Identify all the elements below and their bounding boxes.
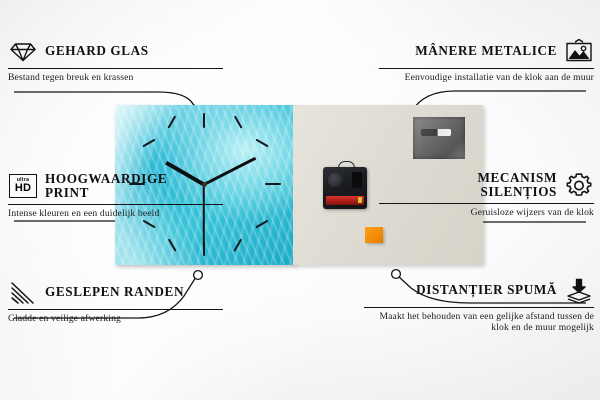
feature-divider bbox=[8, 68, 223, 69]
feature-subtitle: Gladde en veilige afwerking bbox=[8, 313, 223, 324]
clock-tick bbox=[203, 113, 205, 128]
clock-tick bbox=[233, 239, 242, 252]
ultra-hd-icon: ultra HD bbox=[8, 173, 38, 200]
metal-hanger-plate bbox=[413, 117, 465, 159]
feature-title: GESLEPEN RANDEN bbox=[45, 285, 184, 299]
clock-tick bbox=[167, 116, 176, 129]
clock-tick bbox=[265, 183, 281, 185]
feature-distantier-spuma: DISTANȚIER SPUMĂ Maakt het behouden van … bbox=[364, 277, 594, 334]
feature-gehard-glas: GEHARD GLAS Bestand tegen breuk en krass… bbox=[8, 38, 223, 83]
feature-title: MÂNERE METALICE bbox=[415, 44, 557, 58]
gear-icon bbox=[564, 172, 594, 199]
feature-divider bbox=[364, 307, 594, 308]
feature-manere-metalice: MÂNERE METALICE Eenvoudige installatie v… bbox=[379, 38, 594, 83]
feature-divider bbox=[8, 204, 223, 205]
clock-tick bbox=[255, 220, 268, 229]
battery bbox=[326, 196, 364, 205]
clock-tick bbox=[142, 139, 155, 148]
feature-title: GEHARD GLAS bbox=[45, 44, 149, 58]
feature-divider bbox=[379, 68, 594, 69]
feature-subtitle: Eenvoudige installatie van de klok aan d… bbox=[379, 72, 594, 83]
clock-tick bbox=[142, 220, 155, 229]
feature-title: HOOGWAARDIGE PRINT bbox=[45, 172, 195, 201]
feature-geslepen-randen: GESLEPEN RANDEN Gladde en veilige afwerk… bbox=[8, 279, 223, 324]
foam-spacer bbox=[365, 227, 383, 243]
feature-subtitle: Intense kleuren en een duidelijk beeld bbox=[8, 208, 223, 219]
feature-subtitle: Bestand tegen breuk en krassen bbox=[8, 72, 223, 83]
infographic-canvas: GEHARD GLAS Bestand tegen breuk en krass… bbox=[0, 0, 600, 400]
clock-tick bbox=[233, 116, 242, 129]
feature-mecanism-silentios: MECANISM SILENȚIOS Geruisloze wijzers va… bbox=[379, 171, 594, 218]
hanger-slot bbox=[421, 129, 451, 136]
picture-frame-hanging-icon bbox=[564, 38, 594, 65]
feature-title: DISTANȚIER SPUMĂ bbox=[416, 283, 557, 297]
feature-subtitle: Maakt het behouden van een gelijke afsta… bbox=[364, 311, 594, 334]
mechanism-dial bbox=[328, 173, 342, 187]
diamond-icon bbox=[8, 38, 38, 65]
feature-subtitle: Geruisloze wijzers van de klok bbox=[379, 207, 594, 218]
clock-tick bbox=[255, 139, 268, 148]
feature-divider bbox=[8, 309, 223, 310]
clock-mechanism bbox=[323, 167, 367, 209]
ultra-hd-icon-main: HD bbox=[15, 183, 31, 194]
mechanism-block bbox=[352, 172, 362, 188]
feature-divider bbox=[379, 203, 594, 204]
mechanism-hook bbox=[338, 161, 355, 171]
feature-title: MECANISM SILENȚIOS bbox=[407, 171, 557, 200]
press-layers-icon bbox=[564, 277, 594, 304]
beveled-edge-icon bbox=[8, 279, 38, 306]
clock-tick bbox=[167, 239, 176, 252]
feature-hoogwaardige-print: ultra HD HOOGWAARDIGE PRINT Intense kleu… bbox=[8, 172, 223, 219]
